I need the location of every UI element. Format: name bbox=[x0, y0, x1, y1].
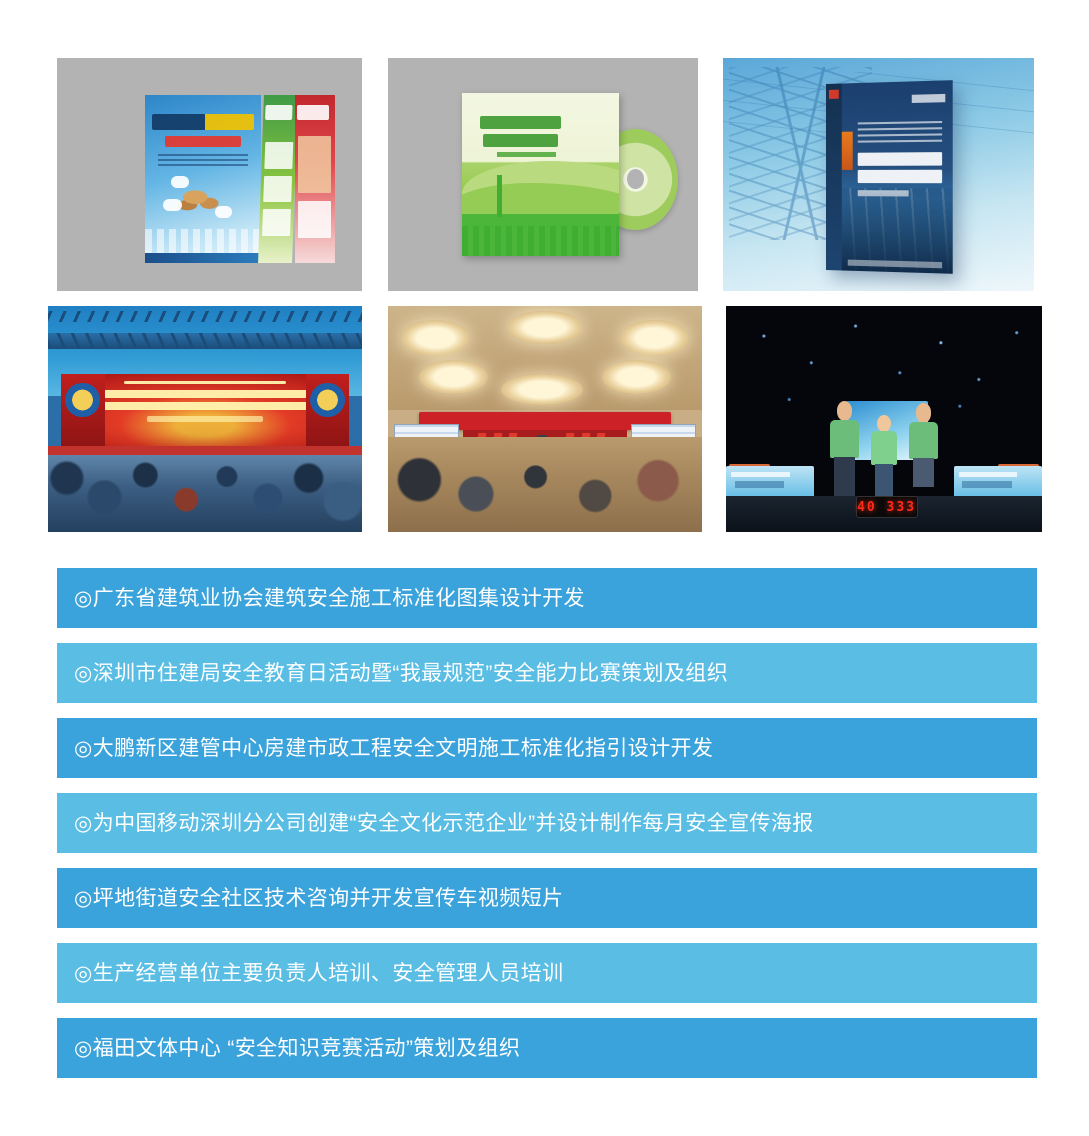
contestant-left-shirt bbox=[830, 420, 858, 458]
list-item[interactable]: ◎广东省建筑业协会建筑安全施工标准化图集设计开发 bbox=[57, 568, 1037, 628]
gallery-row-products bbox=[0, 0, 1089, 291]
brochure-hotline-block bbox=[165, 136, 241, 148]
countdown-timer-value: 40 333 bbox=[857, 500, 916, 515]
contestant-right-shirt bbox=[909, 422, 937, 459]
brochure-artwork bbox=[145, 95, 334, 263]
contestant-middle-head bbox=[877, 415, 891, 432]
brochure-red-card-1 bbox=[298, 136, 331, 193]
book-orange-tab bbox=[842, 132, 853, 170]
truss-upper bbox=[48, 311, 362, 322]
ceiling-lamp-5 bbox=[602, 360, 671, 394]
indoor-conference-photo bbox=[388, 306, 702, 532]
brochure-body-text bbox=[158, 154, 248, 169]
contestant-middle bbox=[871, 415, 896, 501]
book-english-title bbox=[858, 121, 942, 145]
list-item[interactable]: ◎深圳市住建局安全教育日活动暨“我最规范”安全能力比赛策划及组织 bbox=[57, 643, 1037, 703]
book-title-line-1 bbox=[858, 152, 942, 166]
backdrop-title-line-2 bbox=[101, 402, 309, 409]
book-publisher-mark bbox=[911, 94, 945, 103]
brochure-green-card-3 bbox=[262, 209, 292, 236]
page-root: 40 333 ◎广东省建筑业协会建筑安全施工标准化图集设计开发 ◎深圳市住建局安… bbox=[0, 0, 1089, 1136]
contestant-left bbox=[830, 401, 858, 500]
backdrop-organizer-text bbox=[147, 416, 263, 423]
contestant-right bbox=[909, 403, 937, 500]
image-gallery: 40 333 bbox=[0, 0, 1089, 532]
brochure-city-silhouette bbox=[145, 229, 260, 252]
cd-title-line-2 bbox=[483, 134, 558, 147]
team-desk-right bbox=[954, 466, 1042, 498]
brochure-red-title bbox=[297, 105, 329, 120]
list-item[interactable]: ◎生产经营单位主要负责人培训、安全管理人员培训 bbox=[57, 943, 1037, 1003]
book-spine bbox=[826, 83, 842, 270]
list-item-label: ◎为中国移动深圳分公司创建“安全文化示范企业”并设计制作每月安全宣传海报 bbox=[74, 813, 814, 834]
gallery-item-safety-knowledge-quiz-stage[interactable]: 40 333 bbox=[726, 306, 1042, 532]
contestant-left-legs bbox=[834, 457, 854, 501]
brochure-speech-bubble-1 bbox=[171, 176, 189, 188]
brochure-green-card-1 bbox=[264, 142, 294, 169]
contestant-middle-shirt bbox=[871, 431, 896, 465]
brochure-speech-bubble-2 bbox=[163, 199, 183, 211]
safety-emblem-right-icon bbox=[310, 383, 345, 418]
list-item[interactable]: ◎坪地街道安全社区技术咨询并开发宣传车视频短片 bbox=[57, 868, 1037, 928]
list-item[interactable]: ◎福田文体中心 “安全知识竞赛活动”策划及组织 bbox=[57, 1018, 1037, 1078]
ceiling-lamp-1 bbox=[401, 320, 470, 356]
outdoor-event-photo bbox=[48, 306, 362, 532]
brochure-red-card-2 bbox=[298, 201, 331, 238]
brochure-green-card-2 bbox=[263, 176, 293, 203]
brochure-speech-bubble-3 bbox=[215, 206, 232, 218]
cd-subtitle bbox=[497, 152, 556, 157]
countdown-timer-display: 40 333 bbox=[856, 496, 918, 518]
brochure-red-panel bbox=[295, 95, 335, 263]
cd-title-line-1 bbox=[480, 116, 561, 129]
list-item-label: ◎坪地街道安全社区技术咨询并开发宣传车视频短片 bbox=[74, 888, 564, 909]
cd-sleeve-artwork bbox=[462, 93, 648, 256]
brochure-headline-block bbox=[152, 114, 254, 131]
contestant-right-head bbox=[916, 403, 932, 422]
safety-emblem-left-icon bbox=[65, 383, 100, 418]
gallery-item-temporary-electricity-safety-book[interactable] bbox=[723, 58, 1034, 291]
list-item-label: ◎生产经营单位主要负责人培训、安全管理人员培训 bbox=[74, 963, 564, 984]
list-item[interactable]: ◎为中国移动深圳分公司创建“安全文化示范企业”并设计制作每月安全宣传海报 bbox=[57, 793, 1037, 853]
list-item-label: ◎大鹏新区建管中心房建市政工程安全文明施工标准化指引设计开发 bbox=[74, 738, 713, 759]
book-title-line-2 bbox=[858, 169, 942, 183]
list-item-label: ◎福田文体中心 “安全知识竞赛活动”策划及组织 bbox=[74, 1038, 520, 1059]
backdrop-top-slogan bbox=[124, 381, 286, 385]
list-item-label: ◎深圳市住建局安全教育日活动暨“我最规范”安全能力比赛策划及组织 bbox=[74, 663, 728, 684]
ceiling-lamp-3 bbox=[620, 320, 689, 356]
cd-sleeve-cover bbox=[462, 93, 618, 256]
brochure-main-panel bbox=[145, 95, 260, 263]
list-item[interactable]: ◎大鹏新区建管中心房建市政工程安全文明施工标准化指引设计开发 bbox=[57, 718, 1037, 778]
quiz-stage-photo: 40 333 bbox=[726, 306, 1042, 532]
backdrop-title-line-1 bbox=[89, 390, 320, 397]
gallery-row-photos: 40 333 bbox=[0, 306, 1089, 532]
ceiling-lamp-2 bbox=[507, 311, 582, 345]
gallery-item-safety-brochure-spread[interactable] bbox=[57, 58, 362, 291]
gallery-item-safe-community-cd-sleeve[interactable] bbox=[388, 58, 698, 291]
contestant-right-legs bbox=[913, 458, 933, 487]
book-cover bbox=[826, 80, 953, 274]
audience-crowd bbox=[48, 455, 362, 532]
contestant-left-head bbox=[837, 401, 853, 421]
seated-attendees bbox=[388, 437, 702, 532]
team-desk-left bbox=[726, 466, 814, 498]
brochure-footer-bar bbox=[145, 253, 260, 263]
cd-tower-shape bbox=[497, 175, 502, 217]
gallery-item-indoor-conference-meeting[interactable] bbox=[388, 306, 702, 532]
gallery-item-outdoor-safety-education-day-event[interactable] bbox=[48, 306, 362, 532]
brochure-green-title bbox=[265, 105, 293, 120]
cd-city-skyline bbox=[462, 214, 618, 256]
list-item-label: ◎广东省建筑业协会建筑安全施工标准化图集设计开发 bbox=[74, 588, 585, 609]
project-list: ◎广东省建筑业协会建筑安全施工标准化图集设计开发 ◎深圳市住建局安全教育日活动暨… bbox=[57, 568, 1037, 1078]
truss-lower bbox=[48, 333, 362, 349]
ceiling-lamp-6 bbox=[501, 374, 583, 406]
brochure-green-panel bbox=[258, 95, 298, 263]
